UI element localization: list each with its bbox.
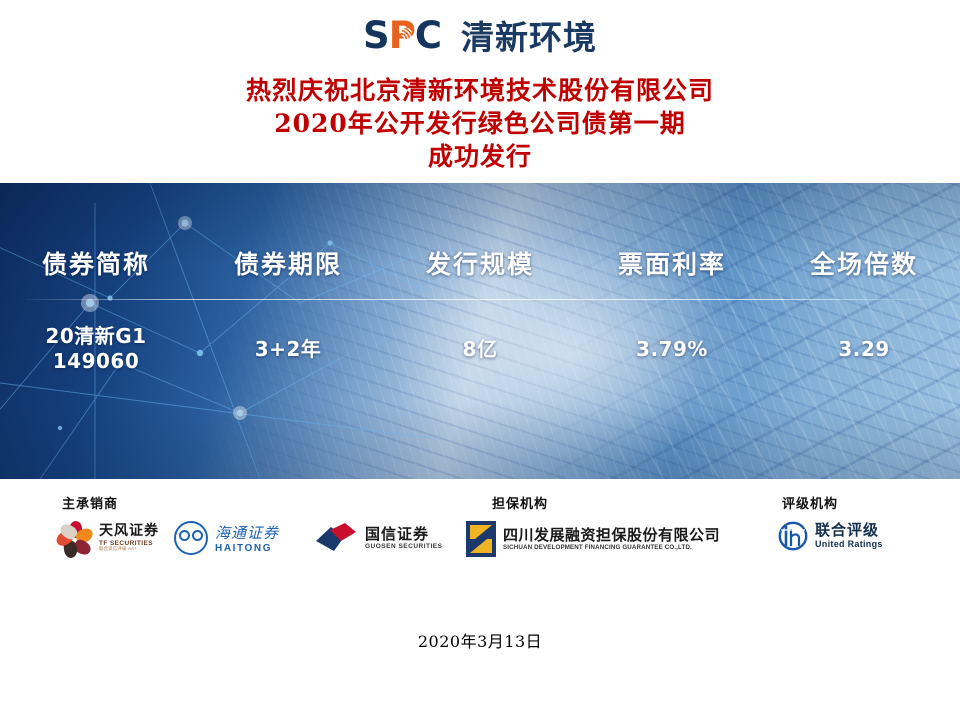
cell-bond-name: 20清新G1 149060	[0, 324, 192, 374]
label-underwriters: 主承销商	[62, 493, 118, 512]
column-header-bond-name: 债券简称	[0, 245, 192, 299]
headline-line-2: 2020年公开发行绿色公司债第一期	[0, 107, 960, 140]
tf-securities-flower-icon	[58, 521, 92, 555]
haitong-knot-icon	[174, 521, 208, 555]
headline-block: 热烈庆祝北京清新环境技术股份有限公司 2020年公开发行绿色公司债第一期 成功发…	[0, 70, 960, 183]
guosen-name-cn: 国信证券	[365, 526, 442, 543]
cell-subscription-multiple: 3.29	[768, 337, 960, 362]
united-ratings-name-cn: 联合评级	[815, 522, 883, 539]
cell-coupon-rate: 3.79%	[576, 337, 768, 362]
label-rating-agency: 评级机构	[782, 493, 838, 512]
guosen-chevron-icon	[314, 521, 358, 555]
bond-table-header-row: 债券简称 债券期限 发行规模 票面利率 全场倍数	[0, 245, 960, 299]
column-header-coupon-rate: 票面利率	[576, 245, 768, 299]
column-header-issue-size: 发行规模	[384, 245, 576, 299]
tf-securities-tagline: 联合资信评级 AA+	[99, 547, 159, 552]
company-name-cn: 清新环境	[461, 11, 597, 59]
headline-line-3: 成功发行	[0, 140, 960, 173]
sichuan-development-name-en: SICHUAN DEVELOPMENT FINANCING GUARANTEE …	[503, 544, 720, 551]
logo-tf-securities: 天风证券 TF SECURITIES 联合资信评级 AA+	[58, 521, 159, 555]
headline-line-1: 热烈庆祝北京清新环境技术股份有限公司	[0, 74, 960, 107]
cell-issue-size: 8亿	[384, 337, 576, 362]
cell-bond-code: 149060	[0, 349, 192, 374]
bond-table-data-row: 20清新G1 149060 3+2年 8亿 3.79% 3.29	[0, 300, 960, 374]
haitong-text: 海通证券 HAITONG	[215, 522, 279, 555]
sichuan-development-text: 四川发展融资担保股份有限公司 SICHUAN DEVELOPMENT FINAN…	[503, 527, 720, 551]
issue-date: 2020年3月13日	[0, 624, 960, 652]
spc-logo-mark: S P C	[363, 17, 441, 54]
label-guarantor: 担保机构	[492, 493, 548, 512]
sichuan-development-name-cn: 四川发展融资担保股份有限公司	[503, 527, 720, 544]
cell-bond-short-name: 20清新G1	[0, 324, 192, 349]
spc-letter-c: C	[415, 17, 441, 54]
column-header-subscription-multiple: 全场倍数	[768, 245, 960, 299]
sichuan-development-icon	[466, 521, 496, 557]
spc-swoosh-icon	[401, 28, 412, 39]
united-ratings-text: 联合评级 United Ratings	[815, 522, 883, 549]
tf-securities-name-cn: 天风证券	[99, 524, 159, 540]
logo-haitong-securities: 海通证券 HAITONG	[174, 521, 279, 555]
bond-summary-table: 债券简称 债券期限 发行规模 票面利率 全场倍数 20清新G1 149060 3…	[0, 245, 960, 374]
united-ratings-name-en: United Ratings	[815, 539, 883, 549]
cell-bond-term: 3+2年	[192, 337, 384, 362]
guosen-name-en: GUOSEN SECURITIES	[365, 543, 442, 550]
logo-united-ratings: 联合评级 United Ratings	[778, 521, 883, 551]
column-header-bond-term: 债券期限	[192, 245, 384, 299]
hero-banner: 债券简称 债券期限 发行规模 票面利率 全场倍数 20清新G1 149060 3…	[0, 183, 960, 479]
company-logo-row: S P C 清新环境	[0, 0, 960, 70]
tf-securities-text: 天风证券 TF SECURITIES 联合资信评级 AA+	[99, 524, 159, 552]
haitong-name-en: HAITONG	[215, 543, 279, 555]
logo-sichuan-development: 四川发展融资担保股份有限公司 SICHUAN DEVELOPMENT FINAN…	[466, 521, 720, 557]
spc-letter-s: S	[363, 17, 389, 54]
institutions-section: 主承销商 担保机构 评级机构 天风证券 TF SECURITIES 联合资信评级…	[0, 479, 960, 624]
guosen-text: 国信证券 GUOSEN SECURITIES	[365, 526, 442, 550]
logo-guosen-securities: 国信证券 GUOSEN SECURITIES	[314, 521, 442, 555]
united-ratings-icon	[778, 521, 808, 551]
spc-letter-p: P	[389, 17, 415, 54]
haitong-name-cn: 海通证券	[215, 522, 279, 543]
